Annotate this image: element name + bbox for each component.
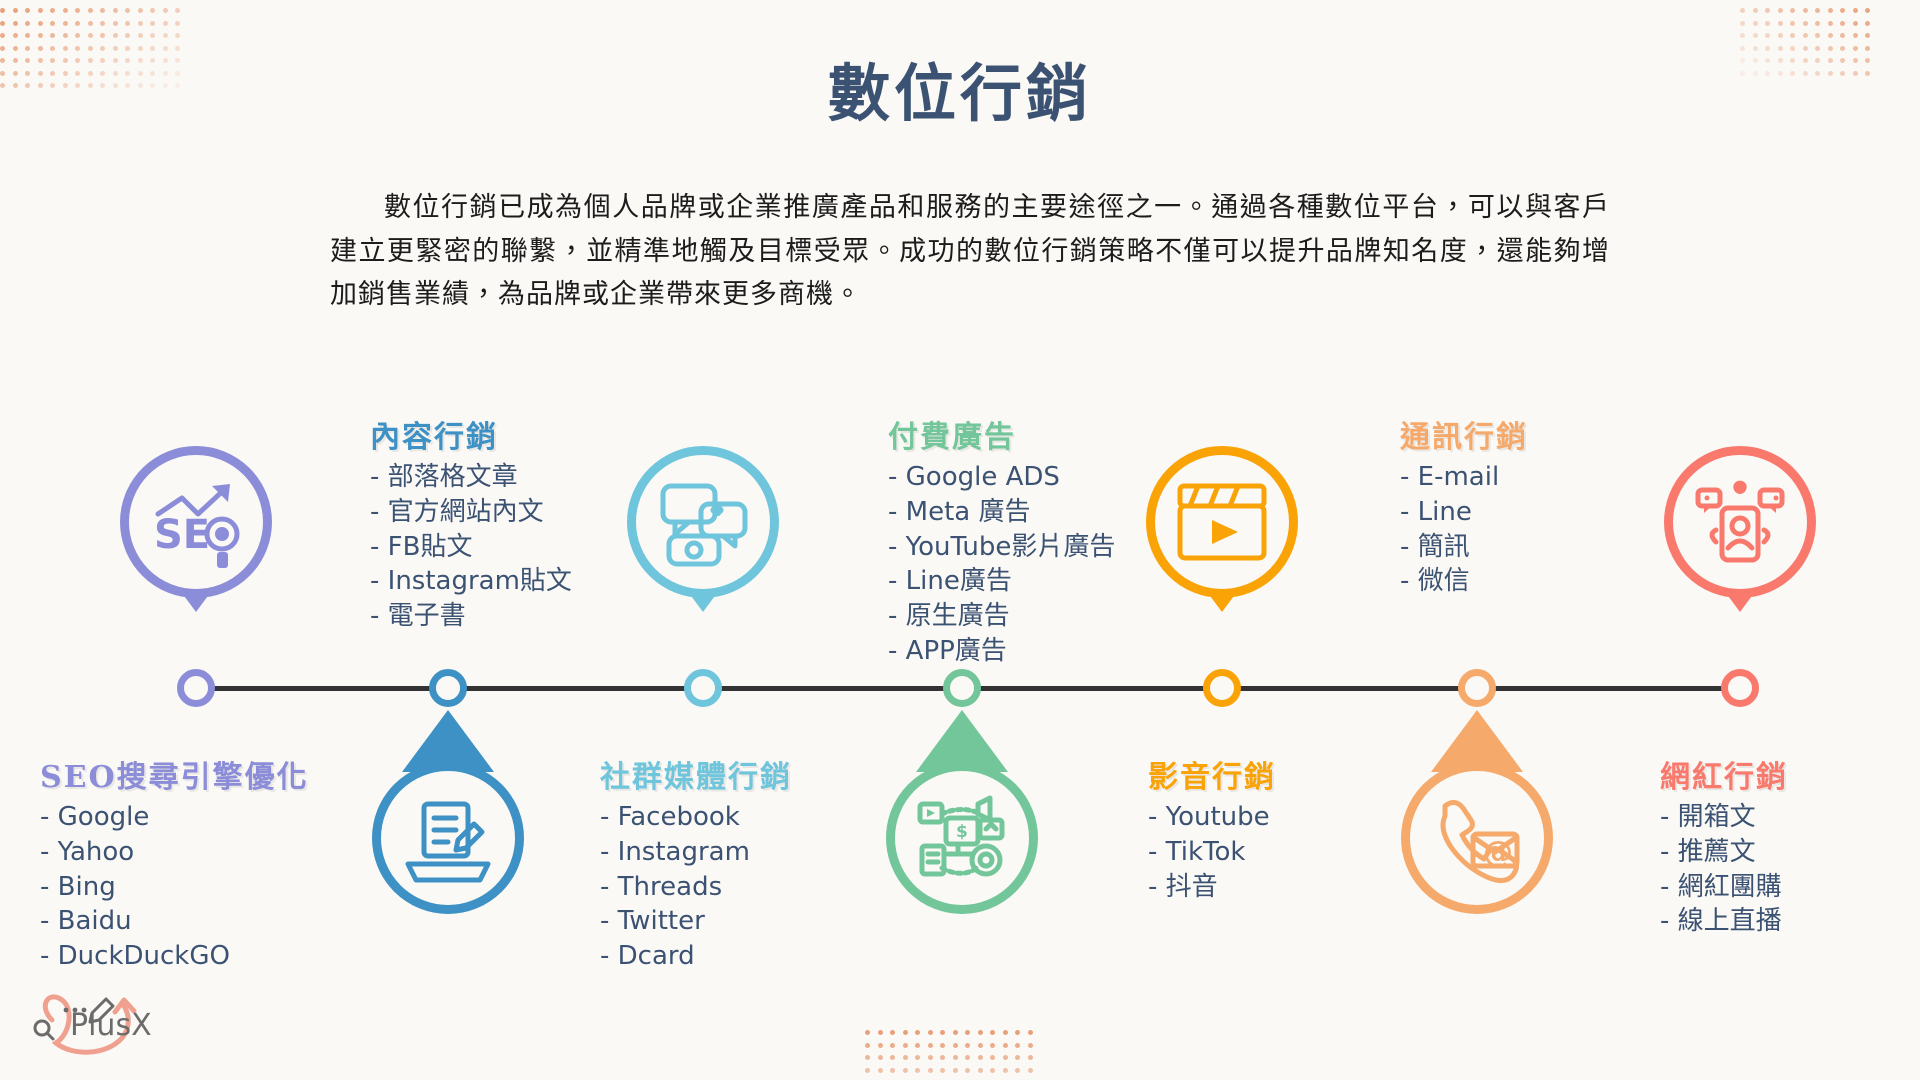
timeline-node-seo[interactable] (177, 669, 215, 707)
timeline-node-content[interactable] (429, 669, 467, 707)
pin-seo[interactable]: SE (120, 446, 272, 598)
timeline-node-comms[interactable] (1458, 669, 1496, 707)
list-item: Dcard (600, 939, 792, 974)
list-item: Facebook (600, 800, 792, 835)
pin-paid[interactable]: $ (886, 762, 1038, 914)
phone-envelope-icon: @ (1401, 762, 1553, 914)
logo-text: PlusX (70, 1008, 152, 1043)
section-content: 內容行銷部落格文章官方網站內文FB貼文Instagram貼文電子書 (370, 412, 572, 634)
list-item: 官方網站內文 (370, 495, 572, 530)
list-item: Google (40, 800, 309, 835)
list-item: Bing (40, 870, 309, 905)
video-play-icon (1146, 446, 1298, 598)
section-heading-social: 社群媒體行銷 (600, 752, 792, 796)
list-item: 微信 (1400, 564, 1528, 599)
svg-text:@: @ (1483, 835, 1513, 870)
list-item: FB貼文 (370, 530, 572, 565)
pin-social[interactable] (627, 446, 779, 598)
section-list-paid: Google ADSMeta 廣告YouTube影片廣告Line廣告原生廣告AP… (888, 460, 1115, 669)
infographic-canvas: 數位行銷 數位行銷已成為個人品牌或企業推廣產品和服務的主要途徑之一。通過各種數位… (0, 0, 1920, 1080)
list-item: 原生廣告 (888, 599, 1115, 634)
section-heading-comms: 通訊行銷 (1400, 412, 1528, 456)
list-item: 網紅團購 (1660, 870, 1788, 905)
section-video: 影音行銷YoutubeTikTok抖音 (1148, 752, 1276, 904)
list-item: 開箱文 (1660, 800, 1788, 835)
section-list-seo: GoogleYahooBingBaiduDuckDuckGO (40, 800, 309, 974)
list-item: Instagram (600, 835, 792, 870)
list-item: Youtube (1148, 800, 1276, 835)
section-heading-video: 影音行銷 (1148, 752, 1276, 796)
list-item: 推薦文 (1660, 835, 1788, 870)
section-social: 社群媒體行銷FacebookInstagramThreadsTwitterDca… (600, 752, 792, 974)
list-item: APP廣告 (888, 634, 1115, 669)
list-item: Yahoo (40, 835, 309, 870)
section-heading-seo: SEO搜尋引擎優化 (40, 752, 309, 796)
list-item: Meta 廣告 (888, 495, 1115, 530)
section-list-influencer: 開箱文推薦文網紅團購線上直播 (1660, 800, 1788, 939)
pin-comms[interactable]: @ (1401, 762, 1553, 914)
timeline-node-influencer[interactable] (1721, 669, 1759, 707)
list-item: TikTok (1148, 835, 1276, 870)
influencer-phone-icon (1664, 446, 1816, 598)
chat-bubbles-icon (627, 446, 779, 598)
timeline-node-social[interactable] (684, 669, 722, 707)
list-item: Google ADS (888, 460, 1115, 495)
svg-text:SE: SE (154, 512, 210, 558)
section-influencer: 網紅行銷開箱文推薦文網紅團購線上直播 (1660, 752, 1788, 939)
section-list-content: 部落格文章官方網站內文FB貼文Instagram貼文電子書 (370, 460, 572, 634)
pin-influencer[interactable] (1664, 446, 1816, 598)
page-title: 數位行銷 (0, 58, 1920, 129)
list-item: Baidu (40, 904, 309, 939)
plusx-logo: PlusX (18, 980, 168, 1070)
pin-content[interactable] (372, 762, 524, 914)
list-item: 電子書 (370, 599, 572, 634)
list-item: 線上直播 (1660, 904, 1788, 939)
section-list-comms: E-mailLine簡訊微信 (1400, 460, 1528, 599)
laptop-writing-icon (372, 762, 524, 914)
pin-video[interactable] (1146, 446, 1298, 598)
list-item: 部落格文章 (370, 460, 572, 495)
intro-paragraph: 數位行銷已成為個人品牌或企業推廣產品和服務的主要途徑之一。通過各種數位平台，可以… (330, 186, 1610, 317)
list-item: 簡訊 (1400, 530, 1528, 565)
list-item: Threads (600, 870, 792, 905)
list-item: 抖音 (1148, 870, 1276, 905)
list-item: Twitter (600, 904, 792, 939)
section-heading-paid: 付費廣告 (888, 412, 1115, 456)
list-item: E-mail (1400, 460, 1528, 495)
section-list-video: YoutubeTikTok抖音 (1148, 800, 1276, 904)
svg-text:$: $ (956, 822, 968, 842)
list-item: Line (1400, 495, 1528, 530)
list-item: DuckDuckGO (40, 939, 309, 974)
section-heading-influencer: 網紅行銷 (1660, 752, 1788, 796)
ads-network-icon: $ (886, 762, 1038, 914)
seo-magnifier-icon: SE (120, 446, 272, 598)
list-item: Instagram貼文 (370, 564, 572, 599)
section-list-social: FacebookInstagramThreadsTwitterDcard (600, 800, 792, 974)
list-item: YouTube影片廣告 (888, 530, 1115, 565)
section-paid: 付費廣告Google ADSMeta 廣告YouTube影片廣告Line廣告原生… (888, 412, 1115, 669)
section-comms: 通訊行銷E-mailLine簡訊微信 (1400, 412, 1528, 599)
timeline-node-video[interactable] (1203, 669, 1241, 707)
section-seo: SEO搜尋引擎優化GoogleYahooBingBaiduDuckDuckGO (40, 752, 309, 974)
section-heading-content: 內容行銷 (370, 412, 572, 456)
timeline-node-paid[interactable] (943, 669, 981, 707)
list-item: Line廣告 (888, 564, 1115, 599)
